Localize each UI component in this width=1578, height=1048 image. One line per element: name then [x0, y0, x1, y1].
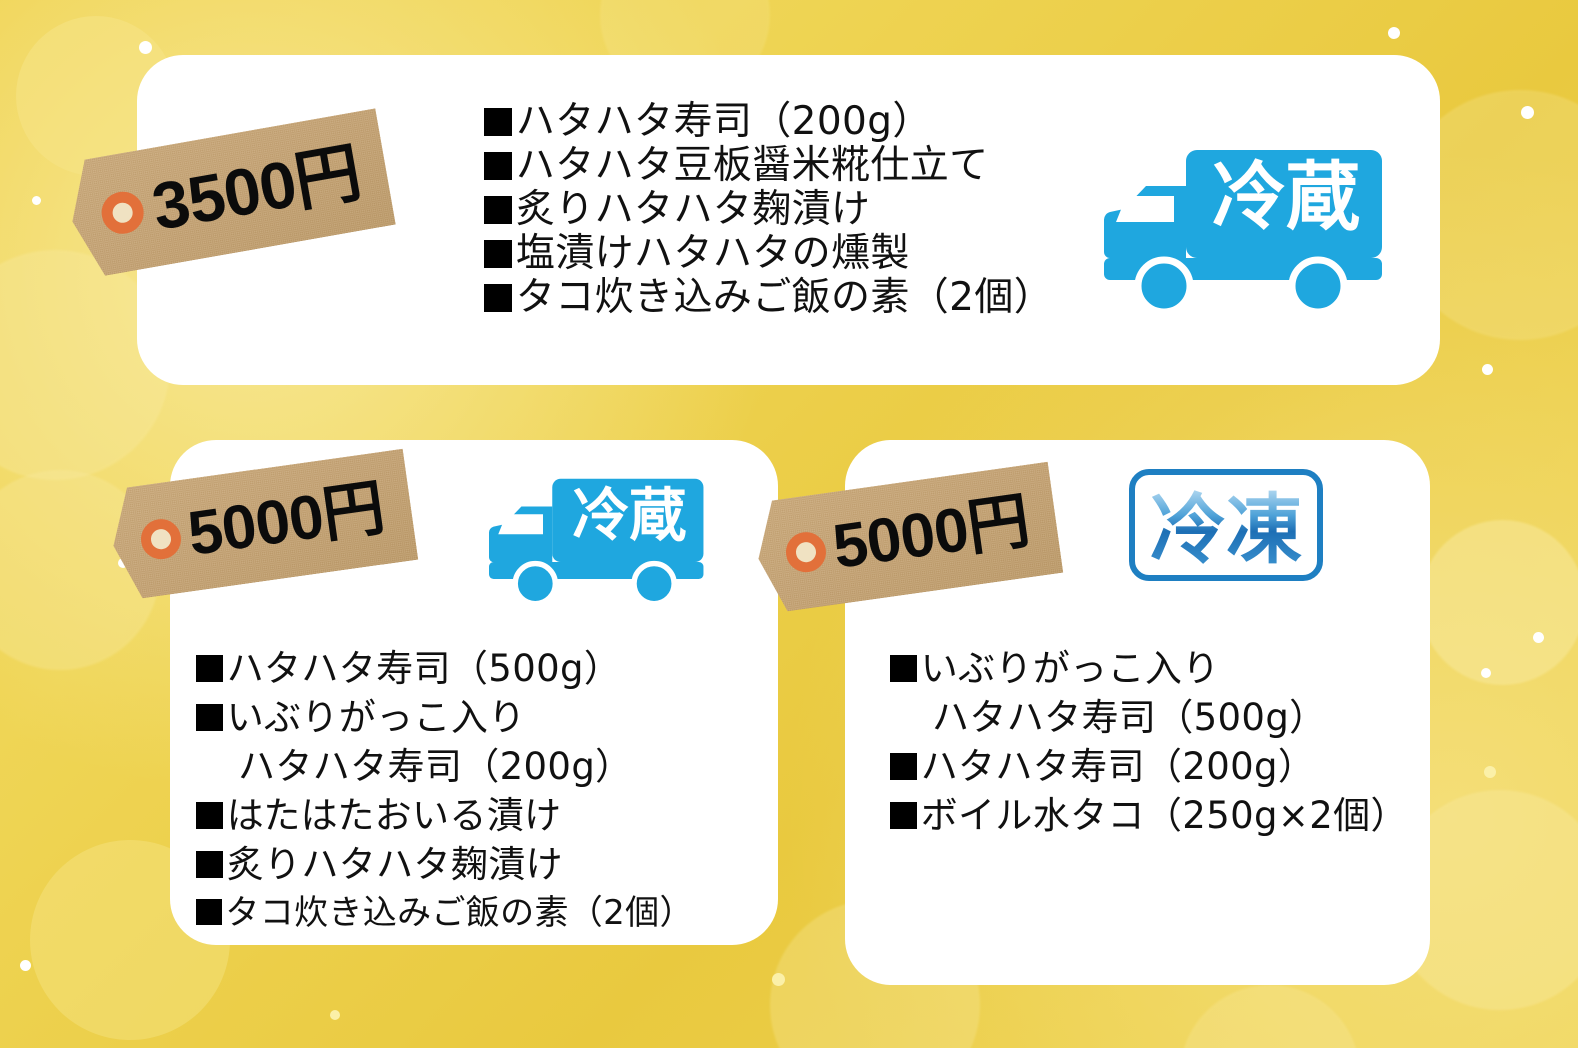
decorative-dot [772, 973, 785, 986]
refrigerated-truck-icon: 冷蔵 [489, 477, 705, 607]
list-item: ボイル水タコ（250g×2個） [890, 791, 1450, 840]
list-item-label: いぶりがっこ入り [921, 647, 1220, 690]
tag-hole-icon [783, 530, 828, 575]
list-item: タコ炊き込みご飯の素（2個） [484, 276, 1104, 320]
list-item-label: はたはたおいる漬け [227, 794, 562, 837]
list-item-label: ハタハタ寿司（200g） [238, 745, 633, 788]
truck-label: 冷蔵 [572, 482, 686, 548]
item-list-5000-frozen: いぶりがっこ入り ハタハタ寿司（500g） ハタハタ寿司（200g） ボイル水タ… [890, 644, 1450, 840]
decorative-dot [1388, 27, 1400, 39]
list-item-label: 炙りハタハタ麹漬け [227, 843, 563, 886]
list-item: タコ炊き込みご飯の素（2個） [196, 889, 776, 938]
list-item-label: 塩漬けハタハタの燻製 [516, 231, 910, 276]
decorative-dot [1533, 632, 1544, 643]
frozen-label: 冷凍 [1150, 485, 1302, 574]
item-list-3500: ハタハタ寿司（200g） ハタハタ豆板醤米糀仕立て 炙りハタハタ麹漬け 塩漬けハ… [484, 100, 1104, 320]
bullet-square-icon [196, 704, 223, 731]
list-item: ハタハタ寿司（500g） [196, 644, 776, 693]
bullet-square-icon [484, 284, 512, 312]
bullet-square-icon [196, 851, 223, 878]
list-item-label: ハタハタ豆板醤米糀仕立て [516, 143, 989, 188]
list-item-label: ハタハタ寿司（200g） [516, 99, 932, 144]
price-label: 5000円 [829, 490, 1033, 579]
list-item: 炙りハタハタ麹漬け [484, 188, 1104, 232]
truck-label: 冷蔵 [1212, 154, 1360, 240]
list-item: ハタハタ寿司（200g） [484, 100, 1104, 144]
bullet-square-icon [484, 196, 512, 224]
tag-hole-icon [138, 517, 183, 562]
list-item-label: ハタハタ寿司（500g） [227, 647, 622, 690]
bullet-square-icon [196, 655, 223, 682]
bullet-square-icon [484, 108, 512, 136]
bullet-square-icon [196, 899, 222, 925]
price-label: 5000円 [184, 477, 388, 566]
list-item-label: 炙りハタハタ麹漬け [516, 187, 871, 232]
bullet-square-icon [890, 753, 917, 780]
decorative-dot [1521, 106, 1534, 119]
list-item-continuation: ハタハタ寿司（500g） [890, 693, 1450, 742]
decorative-dot [1481, 668, 1491, 678]
decorative-dot [20, 960, 31, 971]
decorative-dot [139, 41, 152, 54]
item-list-5000-chilled: ハタハタ寿司（500g） いぶりがっこ入り ハタハタ寿司（200g） はたはたお… [196, 644, 776, 938]
bullet-square-icon [484, 240, 512, 268]
poster-canvas: ハタハタ寿司（200g） ハタハタ豆板醤米糀仕立て 炙りハタハタ麹漬け 塩漬けハ… [0, 0, 1578, 1048]
price-label: 3500円 [147, 138, 365, 239]
list-item-label: タコ炊き込みご飯の素（2個） [516, 275, 1053, 320]
bullet-square-icon [196, 802, 223, 829]
list-item-label: ハタハタ寿司（500g） [932, 696, 1327, 739]
list-item: 塩漬けハタハタの燻製 [484, 232, 1104, 276]
decorative-dot [330, 1010, 340, 1020]
frozen-badge-icon: 冷凍 [1128, 468, 1324, 582]
decorative-dot [1482, 364, 1493, 375]
list-item: いぶりがっこ入り [196, 693, 776, 742]
list-item: いぶりがっこ入り [890, 644, 1450, 693]
bullet-square-icon [890, 655, 917, 682]
list-item-continuation: ハタハタ寿司（200g） [196, 742, 776, 791]
list-item: ハタハタ豆板醤米糀仕立て [484, 144, 1104, 188]
list-item: 炙りハタハタ麹漬け [196, 840, 776, 889]
list-item-label: タコ炊き込みご飯の素（2個） [225, 893, 693, 933]
tag-hole-icon [98, 188, 147, 237]
refrigerated-truck-icon: 冷蔵 [1104, 148, 1384, 316]
list-item-label: いぶりがっこ入り [227, 696, 526, 739]
decorative-dot [1484, 766, 1496, 778]
list-item: ハタハタ寿司（200g） [890, 742, 1450, 791]
bullet-square-icon [890, 802, 917, 829]
list-item-label: ハタハタ寿司（200g） [921, 745, 1316, 788]
bullet-square-icon [484, 152, 512, 180]
list-item: はたはたおいる漬け [196, 791, 776, 840]
list-item-label: ボイル水タコ（250g×2個） [921, 794, 1408, 837]
decorative-dot [32, 196, 41, 205]
